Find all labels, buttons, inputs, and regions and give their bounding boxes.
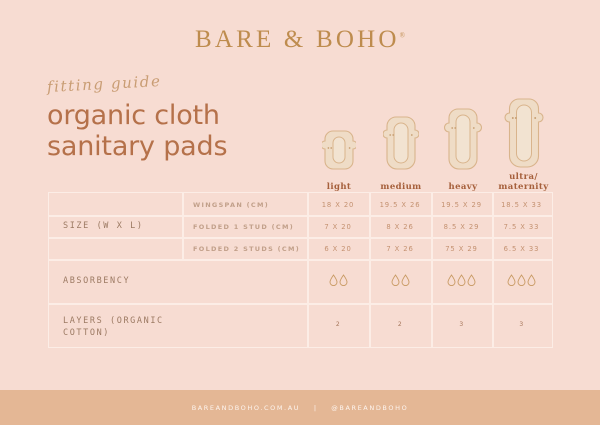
divider-wingspan-folded1 — [49, 215, 552, 217]
droplet-icon — [447, 274, 456, 286]
column-header-ultra-maternity: ultra/ maternity — [494, 172, 553, 192]
cell-absorbency-ultra — [492, 272, 551, 288]
brand-logo: BARE & BOHO® — [0, 26, 600, 54]
cell-layers-light: 2 — [307, 321, 369, 328]
divider-absorbency-layers — [49, 303, 552, 305]
column-header-light: light — [308, 182, 370, 192]
divider-folded1-folded2 — [49, 237, 552, 239]
pad-illustration-heavy — [432, 106, 494, 172]
pad-illustration-medium — [370, 114, 432, 172]
row-label-layers-line-2: COTTON) — [63, 327, 164, 339]
cell-wingspan-ultra: 18.5 X 33 — [492, 201, 551, 209]
sub-label-folded-2-studs: FOLDED 2 STUDS (CM) — [193, 245, 300, 253]
cell-absorbency-light — [307, 272, 369, 288]
cell-wingspan-heavy: 19.5 X 29 — [431, 201, 492, 209]
droplet-icon — [457, 274, 466, 286]
footer-separator: | — [304, 404, 328, 412]
comparison-table: SIZE (W X L) WINGSPAN (CM) 18 X 20 19.5 … — [48, 192, 553, 348]
cell-folded1-light: 7 X 20 — [307, 223, 369, 231]
droplet-icon — [329, 274, 338, 286]
fitting-guide-page: BARE & BOHO® fitting guide organic cloth… — [0, 0, 600, 425]
column-headers: light medium heavy ultra/ maternity — [308, 170, 553, 192]
cell-folded2-heavy: 75 X 29 — [431, 245, 492, 253]
pad-icon-medium — [383, 114, 419, 172]
cell-folded2-ultra: 6.5 X 33 — [492, 245, 551, 253]
pad-icon-light — [322, 128, 356, 172]
column-header-heavy: heavy — [432, 182, 494, 192]
row-label-layers: LAYERS (ORGANIC COTTON) — [63, 315, 164, 339]
sub-label-folded-1-stud: FOLDED 1 STUD (CM) — [193, 223, 294, 231]
column-header-medium: medium — [370, 182, 432, 192]
cell-folded1-ultra: 7.5 X 33 — [492, 223, 551, 231]
droplet-icon — [401, 274, 410, 286]
cell-wingspan-medium: 19.5 X 26 — [369, 201, 431, 209]
divider-label-sublabel — [182, 193, 184, 259]
column-header-ultra-line-1: ultra/ — [494, 172, 553, 182]
row-label-layers-line-1: LAYERS (ORGANIC — [63, 315, 164, 327]
cell-layers-heavy: 3 — [431, 321, 492, 328]
row-label-absorbency: ABSORBENCY — [63, 275, 130, 287]
droplet-icon — [527, 274, 536, 286]
page-title-line-2: sanitary pads — [47, 131, 307, 162]
page-title: organic cloth sanitary pads — [47, 100, 307, 162]
registered-trademark-icon: ® — [400, 32, 405, 40]
cell-folded2-medium: 7 X 26 — [369, 245, 431, 253]
footer-content: BAREANDBOHO.COM.AU | @BAREANDBOHO — [192, 404, 409, 412]
page-title-line-1: organic cloth — [47, 100, 307, 131]
cell-folded1-medium: 8 X 26 — [369, 223, 431, 231]
cell-absorbency-heavy — [431, 272, 492, 288]
brand-name: BARE & BOHO — [195, 26, 400, 53]
droplet-icon — [339, 274, 348, 286]
droplet-icon — [507, 274, 516, 286]
column-header-ultra-line-2: maternity — [494, 182, 553, 192]
droplet-icon — [467, 274, 476, 286]
pad-illustrations — [308, 96, 553, 172]
cell-folded2-light: 6 X 20 — [307, 245, 369, 253]
cell-folded1-heavy: 8.5 X 29 — [431, 223, 492, 231]
sub-label-wingspan: WINGSPAN (CM) — [193, 201, 269, 209]
footer-bar: BAREANDBOHO.COM.AU | @BAREANDBOHO — [0, 390, 600, 425]
cell-wingspan-light: 18 X 20 — [307, 201, 369, 209]
pad-illustration-ultra-maternity — [494, 96, 553, 172]
divider-size-absorbency — [49, 259, 552, 261]
footer-social-handle[interactable]: @BAREANDBOHO — [331, 404, 408, 412]
cell-layers-medium: 2 — [369, 321, 431, 328]
pad-icon-ultra-maternity — [504, 96, 544, 172]
row-label-size: SIZE (W X L) — [63, 220, 144, 232]
cell-layers-ultra: 3 — [492, 321, 551, 328]
pad-illustration-light — [308, 128, 370, 172]
droplet-icon — [391, 274, 400, 286]
droplet-icon — [517, 274, 526, 286]
eyebrow-label: fitting guide — [47, 72, 162, 96]
cell-absorbency-medium — [369, 272, 431, 288]
pad-icon-heavy — [444, 106, 482, 172]
footer-website[interactable]: BAREANDBOHO.COM.AU — [192, 404, 300, 412]
